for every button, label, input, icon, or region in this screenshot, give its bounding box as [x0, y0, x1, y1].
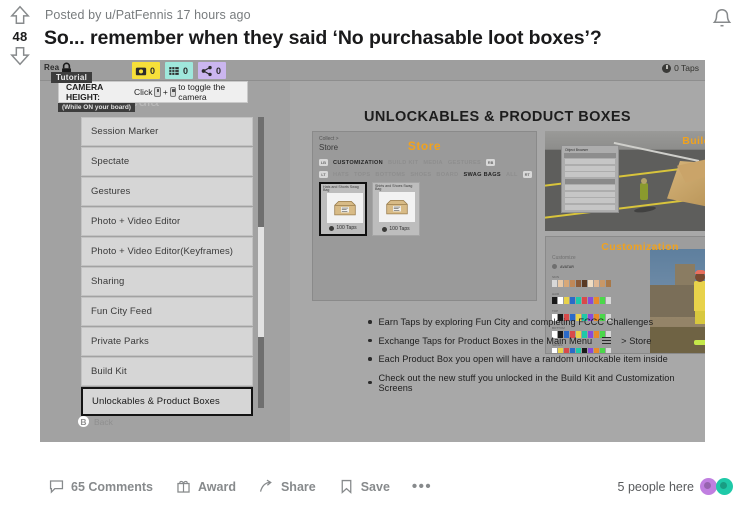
object-browser-row[interactable]	[565, 192, 615, 197]
menu-item[interactable]: Gestures	[81, 177, 253, 206]
list-item: Earn Taps by exploring Fun City and comp…	[368, 317, 705, 327]
hud-ready-label: Rea	[44, 63, 59, 72]
content-heading: UNLOCKABLES & PRODUCT BOXES	[290, 109, 705, 125]
store-subtab-active[interactable]: SWAG BAGS	[463, 172, 501, 178]
grid-badge-value: 0	[183, 66, 188, 76]
award-button[interactable]: Award	[175, 478, 236, 495]
share-badge-icon[interactable]: 0	[198, 62, 226, 79]
swatch[interactable]	[594, 297, 599, 304]
store-subtab[interactable]: SHOES	[410, 172, 431, 178]
tutorial-text-before: Click	[134, 87, 152, 97]
store-panel: Collect > Store Store LB CUSTOMIZATION B…	[312, 131, 537, 301]
build-kit-label: Build Kit	[682, 135, 705, 147]
tutorial-prefix: CAMERA HEIGHT:	[66, 82, 131, 102]
tutorial-text-middle: +	[163, 87, 168, 97]
photo-badge-value: 0	[150, 66, 155, 76]
tile-cost-label: 100 Taps	[336, 225, 356, 231]
trigger-left-icon: LT	[319, 171, 328, 178]
game-content-column: UNLOCKABLES & PRODUCT BOXES Collect > St…	[290, 81, 705, 442]
object-browser-row[interactable]	[565, 198, 615, 203]
button-b-icon: B	[78, 416, 89, 427]
store-subtab[interactable]: ALL	[506, 172, 518, 178]
menu-item[interactable]: Sharing	[81, 267, 253, 296]
bullet-text: Earn Taps by exploring Fun City and comp…	[379, 317, 654, 327]
tutorial-subtext: (While ON your board)	[58, 103, 135, 112]
menu-item[interactable]: Photo + Video Editor(Keyframes)	[81, 237, 253, 266]
swatch-row: SKIN	[552, 275, 644, 287]
list-item: Check out the new stuff you unlocked in …	[368, 373, 705, 393]
store-tab[interactable]: CUSTOMIZATION	[333, 160, 383, 166]
object-browser-row[interactable]	[565, 205, 615, 210]
tap-coin-icon	[662, 64, 671, 73]
swatch[interactable]	[582, 297, 587, 304]
swatch[interactable]	[570, 280, 575, 287]
swatch[interactable]	[588, 280, 593, 287]
store-subtab[interactable]: BOARD	[436, 172, 458, 178]
post-action-bar: 65 Comments Award Share Save •••	[48, 478, 432, 495]
product-box-icon	[333, 199, 357, 218]
back-button[interactable]: B Back	[78, 416, 113, 427]
notification-bell-icon[interactable]	[709, 6, 735, 34]
swatch[interactable]	[552, 280, 557, 287]
swatch-row-label: SKIN	[552, 275, 644, 279]
store-tiles: Hats and Shorts Swag Bag 100 Taps Shir	[319, 182, 420, 236]
reddit-post-page: 48 Posted by u/PatFennis 17 hours ago So…	[0, 0, 747, 505]
post-byline: Posted by u/PatFennis 17 hours ago	[45, 8, 251, 22]
skater-character	[640, 183, 648, 200]
swatch[interactable]	[606, 280, 611, 287]
product-box-icon	[385, 198, 409, 217]
avatar	[716, 478, 733, 495]
character-cap	[695, 270, 705, 274]
swatch[interactable]	[564, 280, 569, 287]
object-browser-row[interactable]	[565, 159, 615, 164]
avatar-label: AVATAR	[560, 265, 574, 269]
store-tab[interactable]: MEDIA	[423, 160, 443, 166]
tutorial-tooltip: CAMERA HEIGHT: Click + to toggle the cam…	[58, 81, 248, 103]
bullet-dot-icon	[368, 320, 372, 324]
store-subtab[interactable]: BOTTOMS	[375, 172, 405, 178]
store-tabs-row-1: LB CUSTOMIZATION BUILD KIT MEDIA GESTURE…	[319, 159, 495, 166]
more-options-button[interactable]: •••	[412, 478, 432, 495]
share-label: Share	[281, 480, 316, 494]
comments-label: 65 Comments	[71, 480, 153, 494]
hud-taps-counter: 0 Taps	[662, 63, 699, 73]
swatch[interactable]	[564, 297, 569, 304]
list-item: Each Product Box you open will have a ra…	[368, 354, 705, 364]
vote-rail: 48	[0, 0, 40, 100]
store-label: Store	[313, 139, 536, 153]
swatch[interactable]	[594, 280, 599, 287]
menu-scrollbar-thumb[interactable]	[258, 227, 264, 337]
store-tabs-row-2: LT HATS TOPS BOTTOMS SHOES BOARD SWAG BA…	[319, 171, 532, 178]
tile-image	[327, 193, 363, 223]
swatch[interactable]	[582, 280, 587, 287]
tap-coin-icon	[329, 226, 334, 231]
hud-badges: 0 0 0	[132, 62, 226, 79]
product-box-tile-selected[interactable]: Hats and Shorts Swag Bag 100 Taps	[319, 182, 367, 236]
game-menu-column: Skatepedia Session Marker Spectate Gestu…	[40, 81, 290, 442]
post-media-screenshot[interactable]: Rea 0 0 0 0 Taps	[40, 60, 705, 442]
avatar-row[interactable]: AVATAR	[552, 264, 644, 269]
bullet-text: Check out the new stuff you unlocked in …	[379, 373, 706, 393]
award-label: Award	[198, 480, 236, 494]
swatch[interactable]	[600, 297, 605, 304]
trigger-right-icon: RT	[523, 171, 532, 178]
menu-item[interactable]: Private Parks	[81, 327, 253, 356]
character-body	[694, 281, 705, 311]
tile-cost: 100 Taps	[321, 225, 365, 231]
bumper-right-icon: RB	[486, 159, 495, 166]
tile-cost-label: 100 Taps	[389, 226, 409, 232]
menu-item[interactable]: Build Kit	[81, 357, 253, 386]
menu-item[interactable]: Session Marker	[81, 117, 253, 146]
hamburger-menu-icon	[602, 337, 611, 344]
swatch[interactable]	[588, 297, 593, 304]
object-browser-selected-row[interactable]	[564, 153, 616, 158]
store-subtab[interactable]: HATS	[333, 172, 349, 178]
swatch[interactable]	[552, 297, 557, 304]
grid-badge-icon[interactable]: 0	[165, 62, 193, 79]
store-subtab[interactable]: TOPS	[354, 172, 370, 178]
swatch-row-label: HAIR	[552, 292, 644, 296]
share-button[interactable]: Share	[258, 478, 316, 495]
bullet-dot-icon	[368, 339, 372, 343]
object-browser-row[interactable]	[565, 166, 615, 171]
tap-coin-icon	[382, 227, 387, 232]
save-label: Save	[361, 480, 390, 494]
object-browser-window: Object Browser	[561, 145, 619, 213]
vote-count: 48	[12, 29, 27, 44]
menu-item[interactable]: Photo + Video Editor	[81, 207, 253, 236]
bumper-left-icon: LB	[319, 159, 328, 166]
comments-button[interactable]: 65 Comments	[48, 478, 153, 495]
swatch-row-label: TOP	[552, 309, 644, 313]
swatch[interactable]	[576, 280, 581, 287]
bullet-text: Each Product Box you open will have a ra…	[379, 354, 668, 364]
tile-image	[379, 192, 415, 222]
avatar-dot-icon	[552, 264, 557, 269]
object-browser-title: Object Browser	[562, 146, 618, 153]
swatch[interactable]	[606, 297, 611, 304]
object-browser-row[interactable]	[565, 172, 615, 177]
bullet-text-suffix: > Store	[621, 336, 651, 346]
tutorial-text-after: to toggle the camera	[178, 82, 247, 102]
product-box-tile[interactable]: Shirts and Shoes Swag Bag 100 Taps	[372, 182, 420, 236]
list-item: Exchange Taps for Product Boxes in the M…	[368, 336, 705, 346]
swatch[interactable]	[576, 297, 581, 304]
page-title: So... remember when they said ‘No purcha…	[44, 26, 687, 50]
bullet-text: Exchange Taps for Product Boxes in the M…	[379, 336, 593, 346]
save-button[interactable]: Save	[338, 478, 390, 495]
game-hud-bar: Rea 0 0 0 0 Taps	[40, 60, 705, 81]
photo-badge-icon[interactable]: 0	[132, 62, 160, 79]
avatar	[700, 478, 717, 495]
share-badge-value: 0	[216, 66, 221, 76]
swatches[interactable]	[552, 297, 644, 304]
menu-item-selected[interactable]: Unlockables & Product Boxes	[81, 387, 253, 416]
swatch[interactable]	[570, 297, 575, 304]
people-here-label: 5 people here	[618, 480, 694, 494]
info-bullet-list: Earn Taps by exploring Fun City and comp…	[368, 317, 705, 401]
store-tab[interactable]: BUILD KIT	[388, 160, 418, 166]
bullet-dot-icon	[368, 381, 372, 385]
menu-item[interactable]: Spectate	[81, 147, 253, 176]
swatch[interactable]	[558, 280, 563, 287]
build-kit-panel: Object Browser Build Kit	[545, 131, 705, 231]
menu-scrollbar[interactable]	[258, 117, 264, 408]
upvote-arrow-icon[interactable]	[9, 4, 31, 26]
downvote-arrow-icon[interactable]	[9, 45, 31, 67]
object-browser-row[interactable]	[565, 185, 615, 190]
customize-title: Customize	[552, 255, 644, 261]
swatch[interactable]	[600, 280, 605, 287]
skatepedia-menu-list: Session Marker Spectate Gestures Photo +…	[81, 117, 253, 417]
key-icon-left	[154, 87, 160, 97]
tile-cost: 100 Taps	[373, 226, 419, 232]
store-tab[interactable]: GESTURES	[448, 160, 481, 166]
swatches[interactable]	[552, 280, 644, 287]
back-button-label: Back	[94, 417, 113, 427]
bullet-dot-icon	[368, 357, 372, 361]
people-here-indicator: 5 people here	[618, 478, 733, 495]
key-icon-right	[170, 87, 176, 97]
hud-taps-label: 0 Taps	[674, 63, 699, 73]
swatch[interactable]	[558, 297, 563, 304]
swatch-row: HAIR	[552, 292, 644, 304]
customization-label: Customization	[546, 241, 705, 253]
menu-item[interactable]: Fun City Feed	[81, 297, 253, 326]
tutorial-tag: Tutorial	[51, 72, 92, 83]
object-browser-row[interactable]	[565, 179, 615, 184]
